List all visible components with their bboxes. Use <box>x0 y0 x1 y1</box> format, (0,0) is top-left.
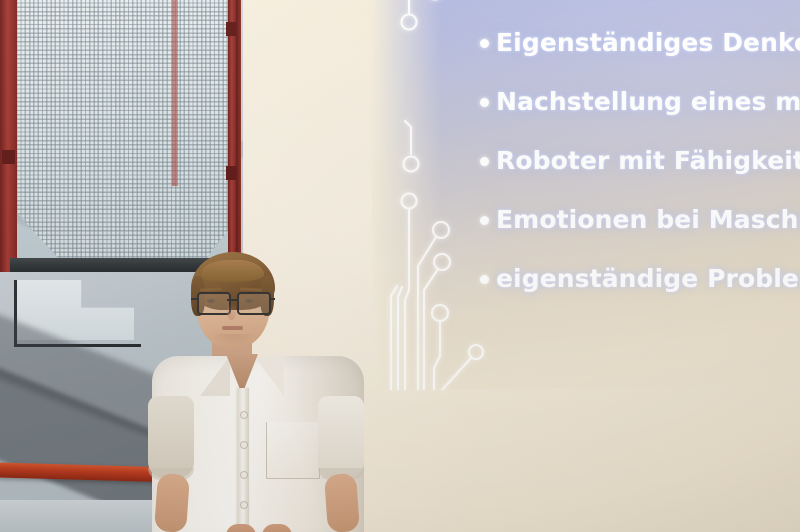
slide-bullet-item: Eigenständiges Denken <box>480 26 800 85</box>
chin-shadow <box>210 334 256 346</box>
arm-right <box>324 473 360 532</box>
slide-bullet-text: Eigenständiges Denken <box>496 26 800 60</box>
hair-fringe <box>202 260 264 282</box>
shirt-button <box>241 442 247 448</box>
red-post-right <box>228 0 236 266</box>
nose <box>227 304 236 320</box>
glasses-bridge <box>227 299 239 301</box>
shirt-button <box>241 412 247 418</box>
slide-bullet-item: eigenständige Problem <box>480 262 800 321</box>
shirt-button <box>241 472 247 478</box>
bullet-dot-icon <box>480 275 489 284</box>
red-post-bracket-upper <box>2 150 15 164</box>
shirt-pocket <box>266 422 320 479</box>
slide-bullet-text: eigenständige Problem <box>496 262 800 296</box>
slide-bullet-item: Nachstellung eines men <box>480 85 800 144</box>
mouth <box>222 326 243 330</box>
shirt-button <box>241 502 247 508</box>
bullet-dot-icon <box>480 39 489 48</box>
sleeve-right <box>318 396 364 478</box>
sleeve-left <box>148 396 194 478</box>
photo-scene: Eigenständiges Denken Nachstellung eines… <box>0 0 800 532</box>
bullet-dot-icon <box>480 216 489 225</box>
slide-bullet-item: Roboter mit Fähigkeit, <box>480 144 800 203</box>
red-post-behind-mesh <box>172 0 178 186</box>
arm-left <box>154 473 190 532</box>
slide-bullet-text: Nachstellung eines men <box>496 85 800 119</box>
presenter <box>150 246 365 532</box>
slide-bullet-text: Roboter mit Fähigkeit, <box>496 144 800 178</box>
glasses-temple-right <box>269 298 275 300</box>
glasses-temple-left <box>191 298 197 300</box>
red-post-left <box>0 0 17 288</box>
lens-left <box>197 292 231 315</box>
collar-left <box>200 356 230 396</box>
bullet-dot-icon <box>480 98 489 107</box>
slide-bullet-list: Eigenständiges Denken Nachstellung eines… <box>480 26 800 321</box>
bullet-dot-icon <box>480 157 489 166</box>
perforated-mesh-panel <box>16 0 230 266</box>
slide-bullet-text: Emotionen bei Maschin <box>496 203 800 237</box>
shirt-placket <box>238 388 249 532</box>
slide-bullet-item: Emotionen bei Maschin <box>480 203 800 262</box>
collar-right <box>254 356 284 396</box>
lens-right <box>237 292 271 315</box>
